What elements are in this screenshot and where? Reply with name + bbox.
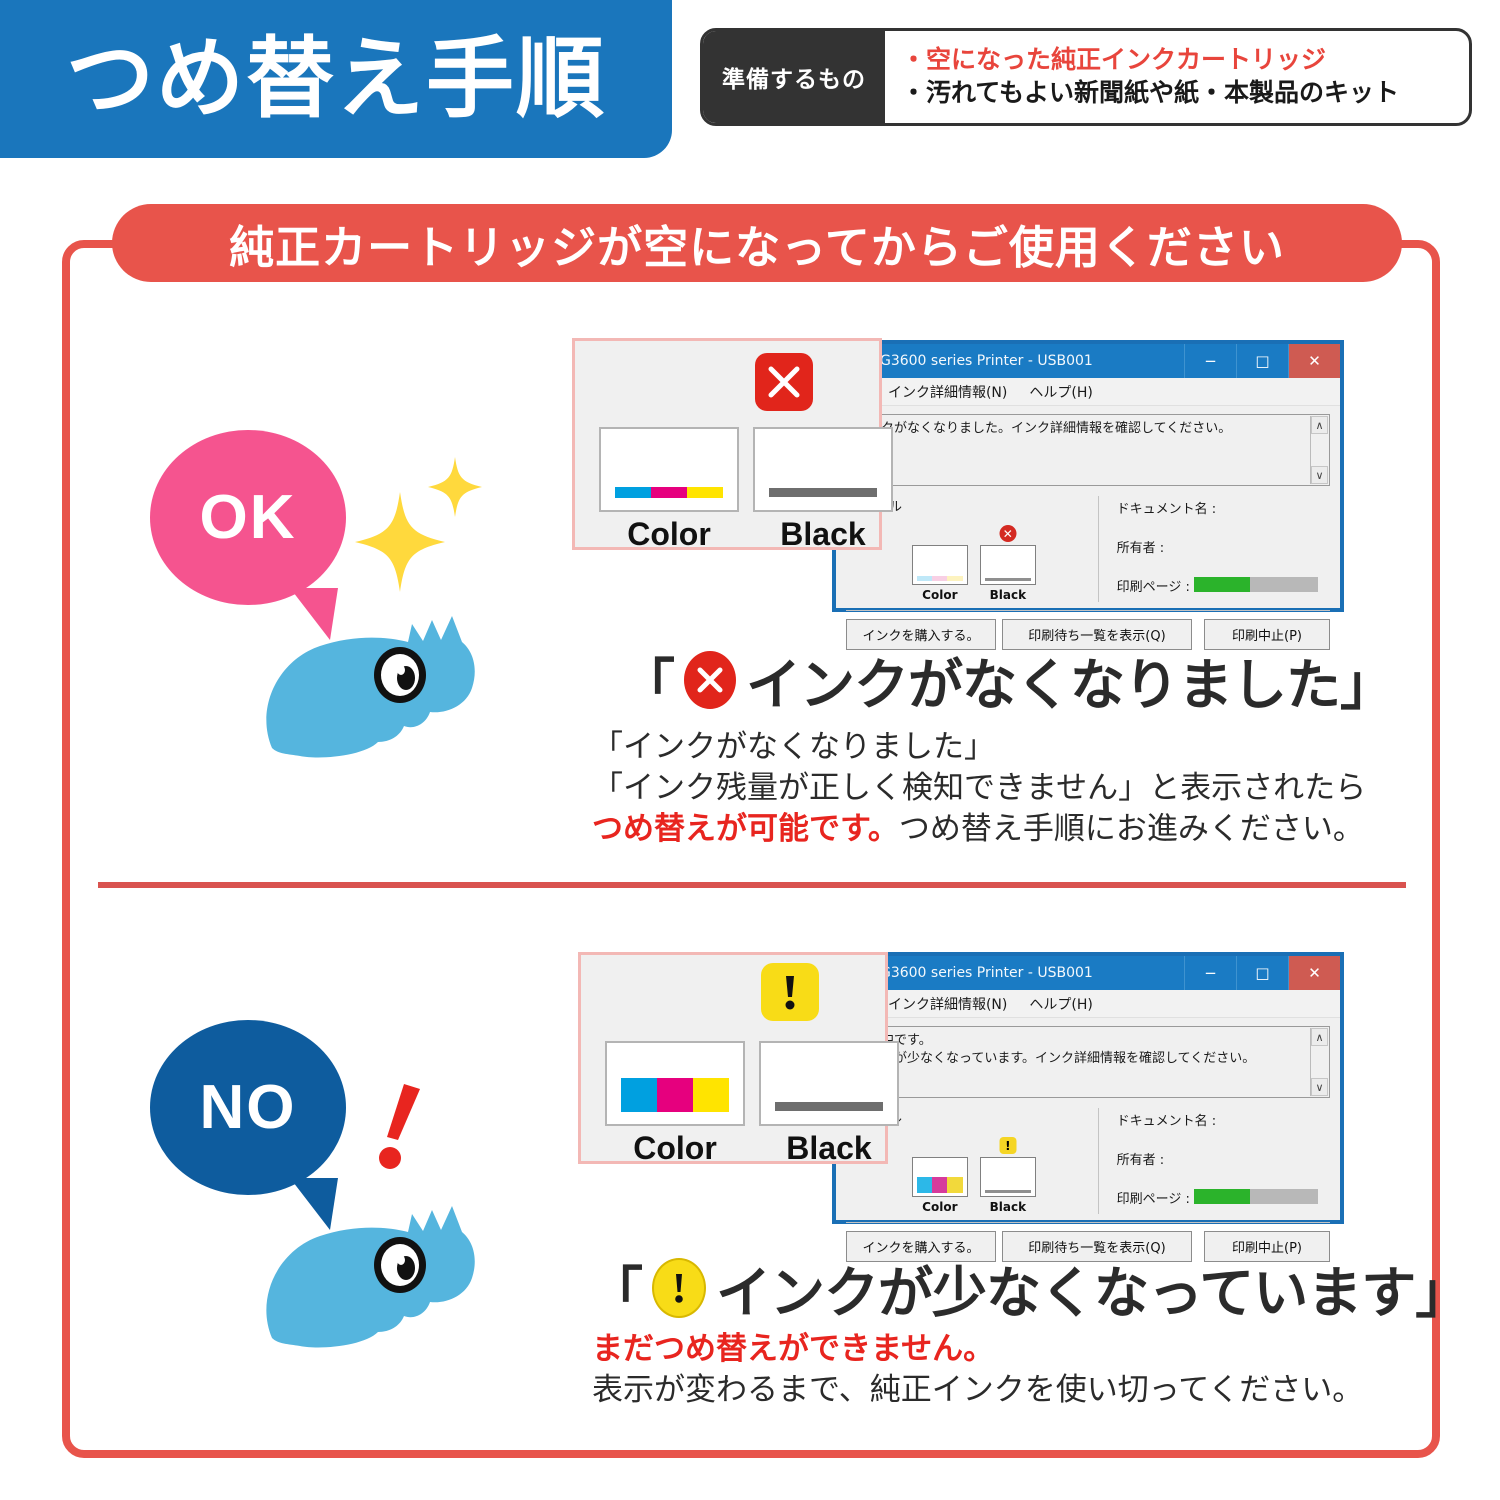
menu-item-ink-details[interactable]: インク詳細情報(N) (888, 994, 1007, 1014)
ok-body-line-3: つめ替えが可能です。つめ替え手順にお進みください。 (592, 808, 1366, 849)
no-label: NO (200, 1072, 297, 1143)
warning-banner-text: 純正カートリッジが空になってからご使用ください (229, 211, 1285, 276)
print-progress-bar (1194, 577, 1318, 592)
window-controls[interactable]: − □ ✕ (1184, 956, 1340, 990)
exclamation-mark-icon (378, 1082, 424, 1172)
dialog-titlebar[interactable]: on MG3600 series Printer - USB001 − □ ✕ (836, 956, 1340, 990)
zoom-callout-ok: Color Black (572, 338, 882, 550)
cartridge-row: Color ✕ Black (850, 545, 1098, 602)
scroll-down-icon[interactable]: ∨ (1311, 466, 1328, 484)
zoom-cartridge-black-box (759, 1041, 899, 1126)
minimize-button[interactable]: − (1184, 956, 1236, 990)
no-mascot-block: NO (150, 1020, 550, 1350)
dialog-menubar[interactable]: (O) インク詳細情報(N) ヘルプ(H) (836, 990, 1340, 1018)
warning-icon (761, 963, 819, 1021)
cartridge-color-fill (917, 576, 963, 581)
zoom-cartridge-color-box (599, 427, 739, 512)
zoom-cartridge-color: Color (599, 427, 739, 553)
status-message-box: 印刷中です。 インクが少なくなっています。インク詳細情報を確認してください。 ∧… (846, 1026, 1330, 1098)
no-body-rest: 表示が変わるまで、純正インクを使い切ってください。 (592, 1369, 1363, 1410)
message-scrollbar[interactable]: ∧ ∨ (1310, 416, 1328, 484)
cartridge-black-fill (985, 578, 1031, 581)
cartridge-black-box (980, 1157, 1036, 1197)
preparation-box: 準備するもの ・空になった純正インクカートリッジ ・汚れてもよい新聞紙や紙・本製… (700, 28, 1472, 126)
status-message-box: インクがなくなりました。インク詳細情報を確認してください。 ∧ ∨ (846, 414, 1330, 486)
no-caption-body: まだつめ替えができません。 表示が変わるまで、純正インクを使い切ってください。 (592, 1328, 1363, 1410)
ink-level-area: クレベル Color ✕ (846, 496, 1330, 602)
zoom-cartridge-black-box (753, 427, 893, 512)
error-x-icon-caption (684, 651, 736, 709)
menu-item-ink-details[interactable]: インク詳細情報(N) (888, 382, 1007, 402)
scroll-down-icon[interactable]: ∨ (1311, 1078, 1328, 1096)
page-title-banner: つめ替え手順 (0, 0, 672, 158)
status-message-line-1: 印刷中です。 (855, 1032, 1321, 1050)
cartridge-black-box (980, 545, 1036, 585)
maximize-button[interactable]: □ (1236, 956, 1288, 990)
zoom-color-label: Color (599, 516, 739, 553)
zoom-color-label: Color (605, 1130, 745, 1167)
zoom-black-label: Black (759, 1130, 899, 1167)
rhino-mascot (260, 608, 490, 758)
zoom-cartridge-color-box (605, 1041, 745, 1126)
cartridge-color-box (912, 1157, 968, 1197)
cartridge-color-box (912, 545, 968, 585)
cartridge-color: Color (912, 545, 968, 602)
cartridge-color-fill (917, 1177, 963, 1193)
menu-item-help[interactable]: ヘルプ(H) (1029, 994, 1092, 1014)
warning-badge-icon: ! (999, 1137, 1016, 1154)
dialog-menubar[interactable]: (O) インク詳細情報(N) ヘルプ(H) (836, 378, 1340, 406)
ok-body-rest: つめ替え手順にお進みください。 (899, 811, 1364, 846)
warning-banner: 純正カートリッジが空になってからご使用ください (112, 204, 1402, 282)
field-document-name: ドキュメント名 : (1117, 498, 1330, 517)
ok-label: OK (200, 482, 297, 553)
zoom-cartridge-color: Color (605, 1041, 745, 1167)
cartridge-black: ✕ Black (980, 545, 1036, 602)
zoom-black-fill (769, 488, 877, 497)
ok-caption-headline: 「 インクがなくなりました 」 (620, 640, 1394, 720)
minimize-button[interactable]: − (1184, 344, 1236, 378)
warning-icon-caption (652, 1258, 706, 1318)
zoom-color-fill (615, 487, 723, 498)
cartridge-color: Color (912, 1157, 968, 1214)
ok-mascot-block: OK (150, 430, 550, 760)
cartridge-color-label: Color (912, 1200, 968, 1214)
scroll-up-icon[interactable]: ∧ (1311, 416, 1328, 434)
ok-body-line-2: 「インク残量が正しく検知できません」と表示されたら (592, 767, 1366, 808)
ink-level-area: クレベル Color ! (846, 1108, 1330, 1214)
zoom-black-fill (775, 1102, 883, 1111)
cartridge-black: ! Black (980, 1157, 1036, 1214)
field-owner: 所有者 : (1117, 1149, 1330, 1168)
dialog-titlebar[interactable]: on MG3600 series Printer - USB001 − □ ✕ (836, 344, 1340, 378)
dialog-title: on MG3600 series Printer - USB001 (846, 353, 1093, 369)
printer-status-dialog-ok[interactable]: on MG3600 series Printer - USB001 − □ ✕ … (832, 340, 1344, 612)
ok-body-red: つめ替えが可能です。 (592, 811, 899, 846)
close-button[interactable]: ✕ (1288, 344, 1340, 378)
menu-item-help[interactable]: ヘルプ(H) (1029, 382, 1092, 402)
ok-speech-bubble: OK (150, 430, 346, 605)
no-caption-open-quote: 「 (588, 1248, 642, 1328)
ok-caption-body: 「インクがなくなりました」 「インク残量が正しく検知できません」と表示されたら … (592, 726, 1366, 850)
zoom-black-label: Black (753, 516, 893, 553)
field-owner: 所有者 : (1117, 537, 1330, 556)
section-divider (98, 882, 1406, 888)
no-caption-headline: 「 インクが少なくなっています 」 (588, 1248, 1469, 1328)
status-message-line-1: インクがなくなりました。インク詳細情報を確認してください。 (855, 420, 1321, 438)
cartridge-black-fill (985, 1190, 1031, 1193)
preparation-label: 準備するもの (703, 31, 885, 123)
zoom-color-fill (621, 1078, 729, 1112)
status-message-line-2: インクが少なくなっています。インク詳細情報を確認してください。 (855, 1050, 1321, 1068)
zoom-cartridges-no: Color Black (605, 1041, 899, 1167)
printer-status-dialog-no[interactable]: on MG3600 series Printer - USB001 − □ ✕ … (832, 952, 1344, 1224)
dialog-body: インクがなくなりました。インク詳細情報を確認してください。 ∧ ∨ クレベル (836, 406, 1340, 602)
print-progress-bar (1194, 1189, 1318, 1204)
window-controls[interactable]: − □ ✕ (1184, 344, 1340, 378)
page-title: つめ替え手順 (66, 35, 606, 123)
cartridge-black-label: Black (980, 1200, 1036, 1214)
ok-body-line-1: 「インクがなくなりました」 (592, 726, 1366, 767)
preparation-item-2: ・汚れてもよい新聞紙や紙・本製品のキット (901, 79, 1469, 109)
error-badge-icon: ✕ (999, 525, 1016, 542)
zoom-cartridge-black: Black (753, 427, 893, 553)
no-speech-bubble: NO (150, 1020, 346, 1195)
field-document-name: ドキュメント名 : (1117, 1110, 1330, 1129)
error-x-icon (755, 353, 813, 411)
no-body-red: まだつめ替えができません。 (592, 1328, 1363, 1369)
scroll-up-icon[interactable]: ∧ (1311, 1028, 1328, 1046)
poster-root: つめ替え手順 準備するもの ・空になった純正インクカートリッジ ・汚れてもよい新… (0, 0, 1500, 1500)
zoom-cartridge-black: Black (759, 1041, 899, 1167)
close-button[interactable]: ✕ (1288, 956, 1340, 990)
rhino-mascot (260, 1198, 490, 1348)
preparation-item-1: ・空になった純正インクカートリッジ (901, 46, 1469, 76)
cartridge-color-label: Color (912, 588, 968, 602)
preparation-items: ・空になった純正インクカートリッジ ・汚れてもよい新聞紙や紙・本製品のキット (885, 31, 1469, 123)
ok-caption-close-quote: 」 (1340, 640, 1394, 720)
cartridge-black-label: Black (980, 588, 1036, 602)
no-caption-text: インクが少なくなっています (716, 1248, 1415, 1328)
sparkle-icon-small (428, 457, 482, 517)
maximize-button[interactable]: □ (1236, 344, 1288, 378)
message-scrollbar[interactable]: ∧ ∨ (1310, 1028, 1328, 1096)
no-caption-close-quote: 」 (1415, 1248, 1469, 1328)
ok-caption-text: インクがなくなりました (746, 640, 1340, 720)
ok-caption-open-quote: 「 (620, 640, 674, 720)
dialog-body: 印刷中です。 インクが少なくなっています。インク詳細情報を確認してください。 ∧… (836, 1018, 1340, 1214)
zoom-cartridges-ok: Color Black (599, 427, 893, 553)
zoom-callout-no: Color Black (578, 952, 888, 1164)
